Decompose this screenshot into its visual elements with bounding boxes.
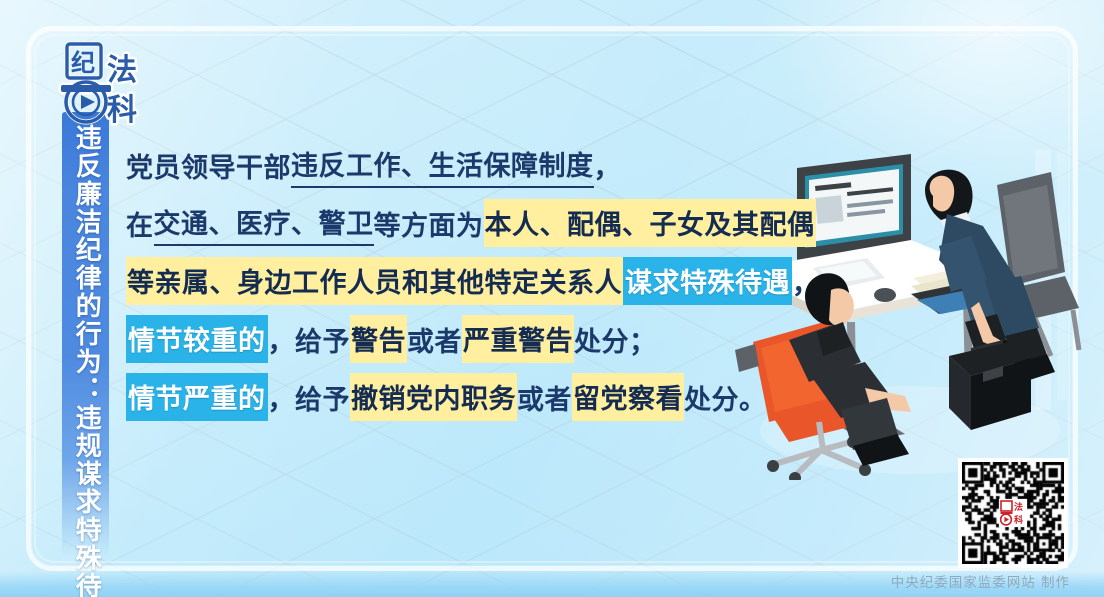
regulation-line: 党员领导干部违反工作、生活保障制度， [126,136,846,194]
svg-text:科: 科 [1014,514,1023,526]
text-segment-highlight-cyan: 情节严重的 [126,373,268,421]
text-segment-plain: 在 [126,202,154,245]
vertical-category-banner: 违反廉洁纪律的行为：违规谋求特殊待遇 [62,112,109,557]
svg-text:法: 法 [107,53,137,88]
text-segment-underline: 交通、医疗、警卫 [154,200,374,246]
qr-center-logo-icon: 法 科 [999,499,1027,527]
text-segment-plain: 等方面为 [374,202,484,245]
text-segment-plain: 处分。 [684,376,767,419]
regulation-line: 等亲属、身边工作人员和其他特定关系人谋求特殊待遇， [126,252,846,310]
qr-code[interactable]: 法 科 [958,458,1068,568]
text-segment-highlight-cyan: 谋求特殊待遇 [623,257,792,305]
text-segment-plain: 或者 [407,318,462,361]
text-segment-plain: 处分； [574,318,657,361]
svg-text:法: 法 [1014,501,1023,513]
text-segment-highlight-yellow: 撤销党内职务 [350,373,517,421]
text-segment-plain: 党员领导干部 [126,144,291,187]
regulation-line: 情节严重的，给予撤销党内职务或者留党察看处分。 [126,368,846,426]
text-segment-highlight-yellow: 警告 [350,315,407,363]
infographic-poster: 法 科 纪 法 科 违反廉洁纪律的行为：违规谋求特殊待遇 党员领导干部违反工作、… [0,0,1104,597]
text-segment-highlight-yellow: 留党察看 [572,373,684,421]
text-segment-highlight-yellow: 本人、配偶、子女及其配偶 [484,199,816,247]
text-segment-plain: ， [792,260,820,303]
regulation-line: 在交通、医疗、警卫等方面为本人、配偶、子女及其配偶 [126,194,846,252]
text-segment-highlight-yellow: 严重警告 [462,315,574,363]
text-segment-underline: 违反工作、生活保障制度 [291,142,594,188]
banner-label: 违反廉洁纪律的行为：违规谋求特殊待遇 [72,124,100,597]
text-segment-plain: ， [594,144,622,187]
footer-credit: 中央纪委国家监委网站 制作 [891,571,1070,591]
regulation-text-block: 党员领导干部违反工作、生活保障制度，在交通、医疗、警卫等方面为本人、配偶、子女及… [126,136,846,426]
jifa-kepu-logo-icon: 法 科 纪 法 科 [55,40,150,128]
text-segment-plain: ，给予 [268,376,351,419]
svg-text:纪: 纪 [71,48,95,77]
regulation-line: 情节较重的，给予警告或者严重警告处分； [126,310,846,368]
text-segment-plain: ，给予 [268,318,351,361]
text-segment-highlight-yellow: 等亲属、身边工作人员和其他特定关系人 [126,257,623,305]
svg-text:科: 科 [107,93,137,128]
text-segment-plain: 或者 [517,376,572,419]
text-segment-highlight-cyan: 情节较重的 [126,315,268,363]
